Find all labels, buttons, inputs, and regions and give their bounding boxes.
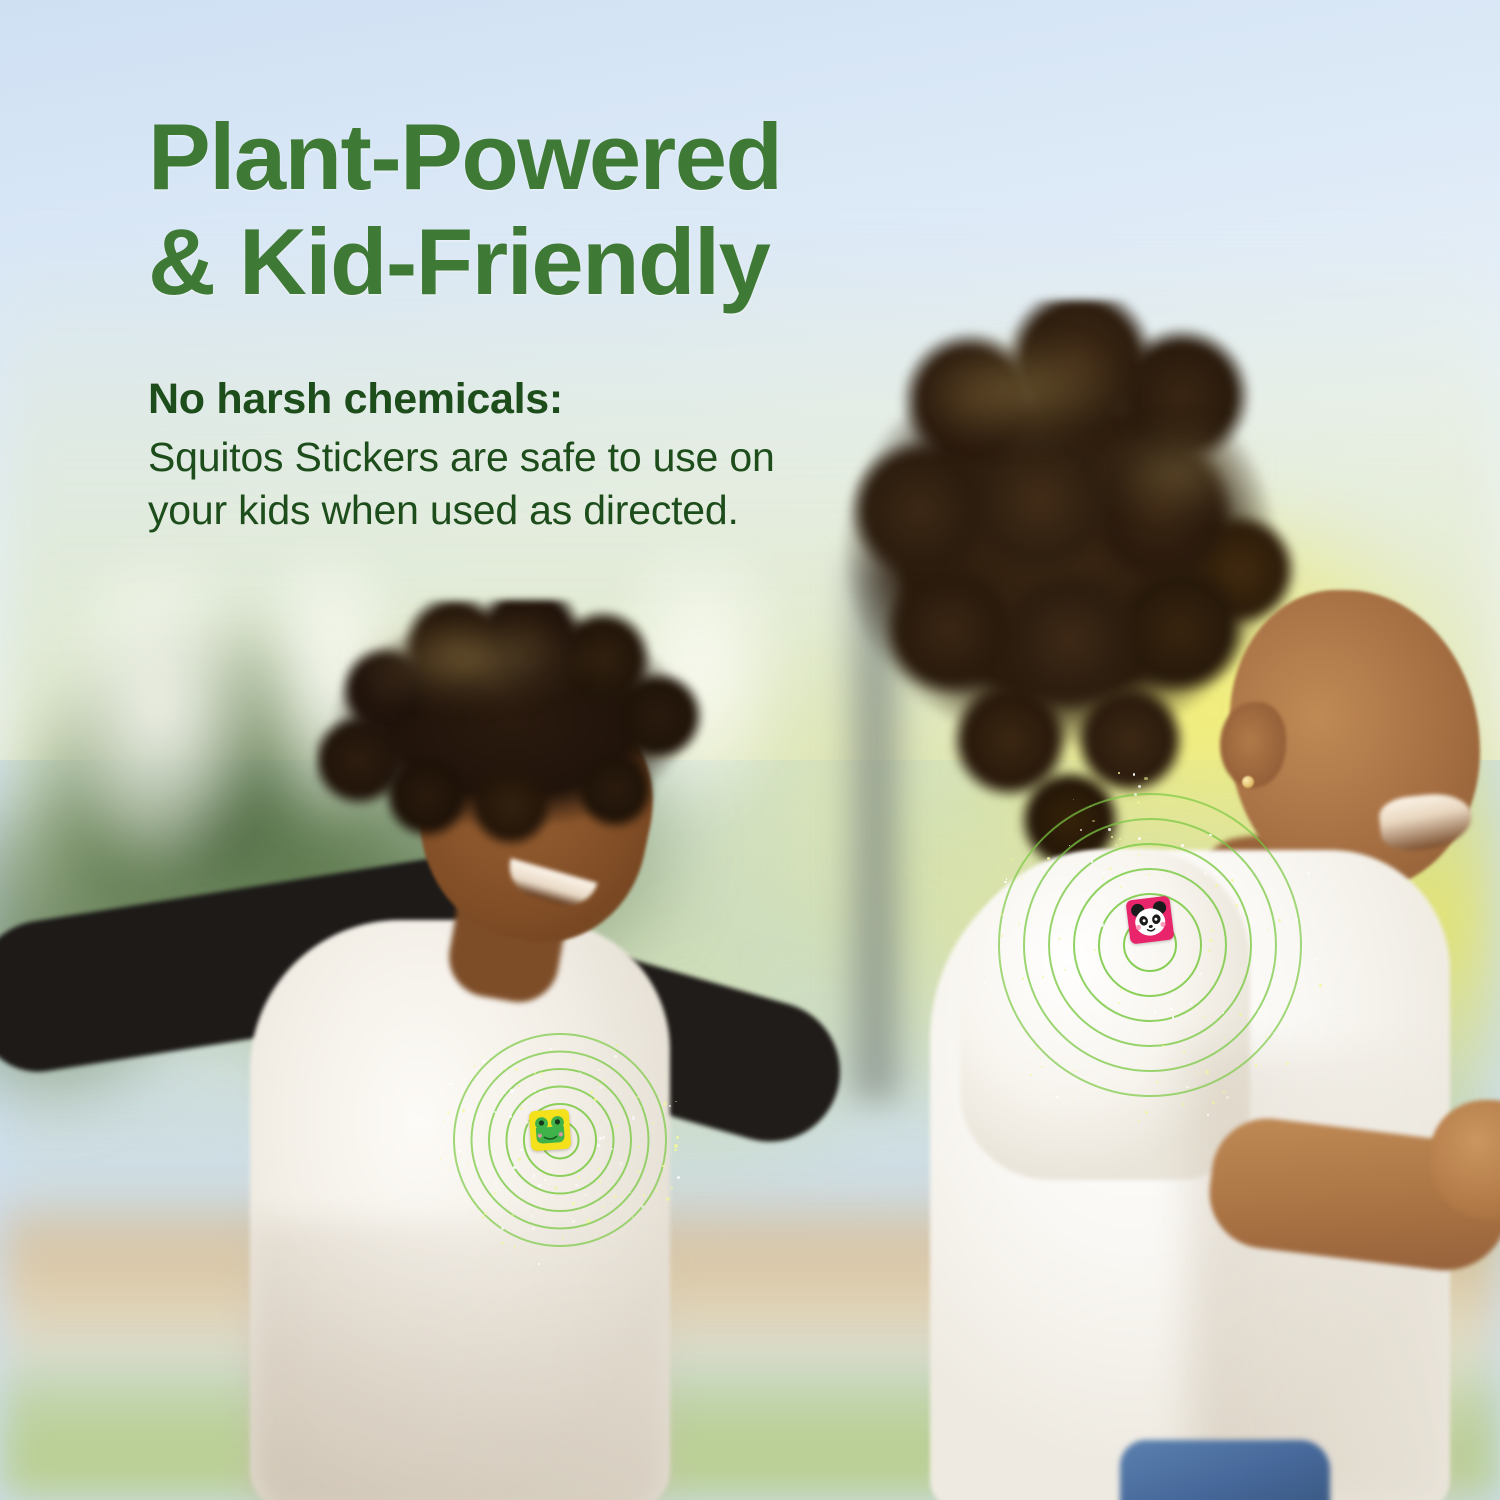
sparkle	[1212, 967, 1213, 968]
sparkle	[604, 1079, 607, 1082]
sparkle	[1278, 919, 1281, 922]
sparkle	[447, 1111, 450, 1114]
sparkle	[1102, 877, 1104, 879]
child-running-left	[0, 600, 820, 1500]
sparkle	[674, 1149, 677, 1152]
sparkle	[1240, 912, 1242, 914]
sparkle	[1022, 977, 1025, 980]
sparkle	[1162, 1045, 1165, 1048]
sparkle	[1108, 828, 1111, 831]
sparkle	[540, 1072, 543, 1075]
sparkle	[1193, 1001, 1196, 1004]
sparkle	[550, 1048, 552, 1050]
sparkle	[638, 1146, 640, 1148]
sparkle	[1132, 818, 1133, 819]
sparkle	[468, 1109, 470, 1111]
sparkle	[571, 1234, 573, 1236]
panda-icon	[1125, 895, 1174, 944]
sparkle	[1204, 872, 1207, 875]
sparkle	[538, 1263, 540, 1265]
sparkle	[1005, 1000, 1006, 1001]
dirt-ground	[0, 1190, 1500, 1380]
sparkle	[1040, 981, 1043, 984]
sparkle	[630, 1192, 631, 1193]
sparkle	[1111, 836, 1114, 839]
sparkle	[1231, 879, 1234, 882]
sparkle	[543, 1188, 545, 1190]
sparkle	[1224, 1037, 1226, 1039]
sparkle	[1277, 886, 1278, 887]
sparkle	[515, 1068, 518, 1071]
sparkle	[1090, 806, 1092, 808]
sparkle	[518, 1085, 520, 1087]
sparkle	[1257, 900, 1259, 902]
sparkle	[533, 1177, 535, 1179]
sparkle	[533, 1090, 535, 1092]
sparkle	[1255, 1064, 1257, 1066]
sparkle	[1129, 1076, 1131, 1078]
sparkle	[514, 1221, 515, 1222]
sparkle	[1048, 979, 1051, 982]
girl-earring	[1242, 776, 1254, 788]
grass-foreground	[0, 1350, 1500, 1500]
sparkle	[503, 1091, 506, 1094]
sparkle	[1265, 1036, 1267, 1038]
panda-sticker-ripple-rings	[1000, 795, 1300, 1095]
sparkle	[1215, 884, 1218, 887]
sparkle	[587, 1219, 590, 1222]
subcopy-body: Squitos Stickers are safe to use on your…	[148, 431, 848, 536]
sparkle	[473, 1065, 476, 1068]
sparkle	[572, 1220, 575, 1223]
sparkle	[1183, 1050, 1186, 1053]
sparkle	[1137, 801, 1140, 804]
sparkle	[1256, 1045, 1259, 1048]
sparkle	[1285, 1025, 1288, 1028]
sparkle	[1099, 1009, 1100, 1010]
sparkle	[588, 1059, 590, 1061]
sparkle	[1047, 857, 1050, 860]
sparkle	[520, 1107, 523, 1110]
sparkle	[1258, 1010, 1261, 1013]
sparkle	[540, 1091, 542, 1093]
sparkle	[1134, 793, 1137, 796]
sparkle	[1157, 1053, 1158, 1054]
sparkle	[1101, 923, 1105, 927]
sparkle	[1076, 1070, 1078, 1072]
sparkle	[1041, 1066, 1043, 1068]
left-child-face	[397, 669, 674, 961]
sparkle	[1042, 916, 1043, 917]
sparkle	[1018, 923, 1020, 925]
sparkle	[1004, 881, 1007, 884]
sparkle	[495, 1182, 497, 1184]
sparkle	[587, 1194, 589, 1196]
girl-hair-highlight	[850, 320, 1290, 620]
sparkle	[1133, 773, 1135, 775]
sparkle	[1054, 936, 1056, 938]
sparkle	[1138, 1120, 1140, 1122]
sparkle	[1223, 865, 1225, 867]
sparkle	[632, 1216, 633, 1217]
headline-line-2: & Kid-Friendly	[148, 209, 1028, 314]
sparkle	[1239, 1013, 1242, 1016]
left-child-neck	[443, 842, 577, 1009]
sparkle	[1181, 844, 1184, 847]
sparkle	[585, 1194, 586, 1195]
girl-tshirt-shadow	[1190, 1050, 1460, 1500]
panda-sticker	[1125, 895, 1174, 944]
sparkle	[599, 1086, 603, 1090]
sparkle-particles	[1000, 795, 1300, 1095]
sparkle	[494, 1111, 496, 1113]
sparkle	[466, 1124, 468, 1126]
sparkle	[1102, 896, 1105, 899]
sparkle	[1094, 949, 1096, 951]
sparkle	[1138, 785, 1141, 788]
sparkle	[1088, 932, 1091, 935]
sparkle	[1106, 899, 1107, 900]
sparkle	[572, 1059, 575, 1062]
sparkle	[1221, 948, 1223, 950]
sparkle	[652, 1122, 654, 1124]
girl-fist	[1430, 1100, 1500, 1220]
sparkle	[1203, 1016, 1206, 1019]
sparkle	[670, 1186, 673, 1189]
sparkle	[458, 1150, 460, 1152]
sparkle	[1138, 859, 1140, 861]
sparkle	[1022, 877, 1024, 879]
sparkle	[1035, 1047, 1038, 1050]
sparkle	[1170, 1008, 1173, 1011]
sparkle	[598, 1083, 600, 1085]
sparkle	[580, 1072, 581, 1073]
sparkle	[1186, 1086, 1189, 1089]
sparkle	[462, 1109, 465, 1112]
sparkle	[1286, 1062, 1289, 1065]
sparkle	[1000, 913, 1003, 916]
sparkle	[546, 1096, 547, 1097]
sparkle	[503, 1068, 505, 1070]
sparkle	[1267, 929, 1269, 931]
sparkle	[1115, 844, 1117, 846]
sparkle	[607, 1121, 609, 1123]
sparkle	[562, 1237, 564, 1239]
sparkle	[616, 1044, 619, 1047]
sparkle	[440, 1158, 442, 1160]
subcopy-heading: No harsh chemicals:	[148, 372, 848, 427]
sparkle	[513, 1166, 516, 1169]
left-child-hair	[315, 600, 715, 890]
sparkle	[1209, 939, 1213, 943]
sparkle	[1144, 777, 1147, 780]
sparkle	[1208, 949, 1211, 952]
sparkle	[641, 1106, 642, 1107]
sparkle	[509, 1115, 512, 1118]
sparkle	[1088, 867, 1089, 868]
sparkle	[1042, 976, 1044, 978]
sparkle	[1047, 1002, 1049, 1004]
sparkle	[1120, 989, 1122, 991]
sparkle	[449, 1169, 450, 1170]
sparkle	[677, 1176, 680, 1179]
sparkle	[481, 1056, 483, 1058]
sparkle	[1196, 1073, 1198, 1075]
sparkle	[519, 1199, 520, 1200]
sparkle	[641, 1205, 644, 1208]
sparkle	[554, 1186, 557, 1189]
sparkle	[1118, 772, 1120, 774]
sparkle	[1265, 1013, 1268, 1016]
sparkle	[1273, 1032, 1274, 1033]
sparkle	[643, 1194, 646, 1197]
sparkle	[553, 1176, 555, 1178]
sparkle	[1223, 1012, 1225, 1014]
sparkle	[511, 1214, 514, 1217]
sparkle	[614, 1055, 617, 1058]
frog-icon	[529, 1109, 572, 1152]
sparkle	[1064, 969, 1066, 971]
sparkle	[1319, 984, 1322, 987]
sparkle	[1235, 904, 1238, 907]
sparkle	[1211, 929, 1214, 932]
sparkle	[494, 1077, 495, 1078]
sparkle	[493, 1192, 497, 1196]
sparkle	[669, 1105, 671, 1107]
sparkle	[1080, 829, 1082, 831]
sparkle	[542, 1174, 543, 1175]
girl-forearm	[1203, 1112, 1500, 1278]
sparkle	[1073, 1070, 1075, 1072]
sparkle	[1006, 878, 1008, 880]
sparkle	[1119, 838, 1121, 840]
sparkle	[1145, 1111, 1148, 1114]
sparkle	[590, 1091, 593, 1094]
sparkle	[518, 1158, 521, 1161]
left-child-outstretched-arm	[0, 851, 502, 1080]
sparkle	[666, 1197, 670, 1201]
sparkle	[477, 1163, 479, 1165]
sparkle	[611, 1148, 613, 1150]
sparkle	[1030, 1074, 1033, 1077]
sparkle	[449, 1083, 452, 1086]
sparkle	[1063, 1102, 1065, 1104]
page-title: Plant-Powered & Kid-Friendly	[148, 104, 1028, 315]
sparkle	[544, 1179, 546, 1181]
sparkle	[1172, 1016, 1175, 1019]
sparkle	[1011, 858, 1014, 861]
sparkle	[1102, 872, 1106, 876]
sparkle	[585, 1222, 587, 1224]
sparkle	[602, 1136, 605, 1139]
sparkle	[510, 1156, 513, 1159]
sparkle	[557, 1023, 558, 1024]
sun-flare	[1080, 1220, 1500, 1500]
girl-denim-shorts	[1120, 1440, 1330, 1500]
sparkle	[1120, 886, 1122, 888]
sparkle	[1227, 829, 1228, 830]
sparkle	[1222, 1091, 1225, 1094]
sparkle	[467, 1162, 469, 1164]
sparkle	[443, 1120, 444, 1121]
sparkle	[675, 1101, 676, 1102]
sparkle	[598, 1069, 600, 1071]
sparkle	[1246, 1018, 1248, 1020]
sparkle	[512, 1083, 514, 1085]
sparkle	[1018, 921, 1019, 922]
sparkle	[674, 1144, 677, 1147]
sparkle	[1170, 1059, 1172, 1061]
sparkle	[545, 1189, 546, 1190]
sparkle	[550, 1094, 551, 1095]
sparkle	[1072, 1098, 1073, 1099]
sparkle	[1149, 1030, 1151, 1032]
sparkle	[1056, 1096, 1058, 1098]
sparkle	[603, 1205, 605, 1207]
sparkle	[632, 1116, 636, 1120]
sparkle	[1136, 1048, 1137, 1049]
sparkle	[662, 1165, 664, 1167]
sparkle	[577, 1176, 580, 1179]
sparkle	[1109, 867, 1112, 870]
product-marketing-image: Plant-Powered & Kid-Friendly No harsh ch…	[0, 0, 1500, 1500]
sparkle	[1212, 1101, 1215, 1104]
sparkle	[615, 1125, 618, 1128]
sparkle	[1073, 799, 1074, 800]
tree-trunk	[840, 560, 910, 1100]
frog-sticker	[529, 1109, 572, 1152]
sparkle	[1001, 935, 1004, 938]
sparkle	[572, 1202, 575, 1205]
sparkle	[1156, 1081, 1159, 1084]
sparkle	[1106, 885, 1108, 887]
sparkle	[538, 1184, 541, 1187]
sparkle	[1138, 837, 1141, 840]
sparkle	[1071, 1081, 1073, 1083]
sparkle	[482, 1060, 485, 1063]
sparkle	[510, 1089, 514, 1093]
sparkle	[527, 1229, 529, 1231]
left-child-hair-highlight	[330, 610, 690, 760]
sparkle	[594, 1098, 597, 1101]
sparkle	[666, 1074, 668, 1076]
sparkle	[484, 1212, 487, 1215]
sparkle	[1085, 965, 1088, 968]
sparkle	[1092, 820, 1095, 823]
sparkle	[1209, 834, 1211, 836]
left-child-smile	[503, 858, 598, 912]
sparkle	[553, 1199, 554, 1200]
sparkle	[620, 1093, 621, 1094]
sparkle	[597, 1144, 600, 1147]
subcopy-block: No harsh chemicals: Squitos Stickers are…	[148, 372, 848, 536]
sparkle	[534, 1072, 536, 1074]
sparkle	[514, 1246, 516, 1248]
headline-line-1: Plant-Powered	[148, 104, 1028, 209]
sparkle	[567, 1190, 569, 1192]
sparkle	[676, 1136, 679, 1139]
sparkle	[1182, 1103, 1185, 1106]
sparkle	[1008, 853, 1009, 854]
sparkle	[614, 1129, 616, 1131]
sparkle	[585, 1210, 586, 1211]
sparkle	[1207, 1114, 1209, 1116]
sparkle	[1190, 1003, 1192, 1005]
sparkle	[1315, 958, 1318, 961]
girl-ear	[1220, 702, 1286, 788]
sparkle	[1069, 845, 1070, 846]
sparkle	[1199, 972, 1202, 975]
sparkle	[501, 1227, 504, 1230]
sparkle	[575, 1184, 577, 1186]
sparkle	[543, 1077, 545, 1079]
sparkle	[438, 1120, 441, 1123]
sparkle	[663, 1103, 667, 1107]
sparkle	[482, 1216, 484, 1218]
sparkle	[597, 1168, 600, 1171]
sparkle	[636, 1096, 638, 1098]
sparkle	[637, 1170, 640, 1173]
sparkle	[532, 1227, 535, 1230]
sparkle	[624, 1117, 626, 1119]
sparkle	[1292, 1015, 1294, 1017]
sparkle	[1091, 860, 1093, 862]
sparkle	[1024, 994, 1026, 996]
sparkle	[1138, 854, 1141, 857]
sparkle	[1295, 918, 1298, 921]
sparkle	[1244, 959, 1246, 961]
left-child-shirt-shadow	[250, 1220, 670, 1500]
sparkle	[1205, 1070, 1209, 1074]
sunlight-gaps	[0, 560, 900, 1080]
sparkle	[599, 1180, 601, 1182]
girl-smile	[1377, 790, 1474, 853]
sparkle	[1039, 988, 1040, 989]
sparkle	[530, 1215, 533, 1218]
sparkle	[501, 1242, 503, 1244]
sparkle	[533, 1174, 535, 1176]
sparkle	[1154, 1011, 1157, 1014]
sparkle	[1058, 937, 1062, 941]
sparkle	[1206, 898, 1208, 900]
sparkle	[614, 1195, 616, 1197]
sparkle	[520, 1149, 523, 1152]
sparkle	[1307, 872, 1310, 875]
sparkle	[591, 1097, 592, 1098]
sparkle	[1148, 874, 1150, 876]
sparkle	[621, 1196, 623, 1198]
sparkle	[983, 981, 987, 985]
sparkle	[1118, 1002, 1120, 1004]
sparkle	[620, 1162, 623, 1165]
sparkle	[547, 1081, 549, 1083]
sparkle	[655, 1189, 658, 1192]
sparkle	[1226, 1096, 1229, 1099]
